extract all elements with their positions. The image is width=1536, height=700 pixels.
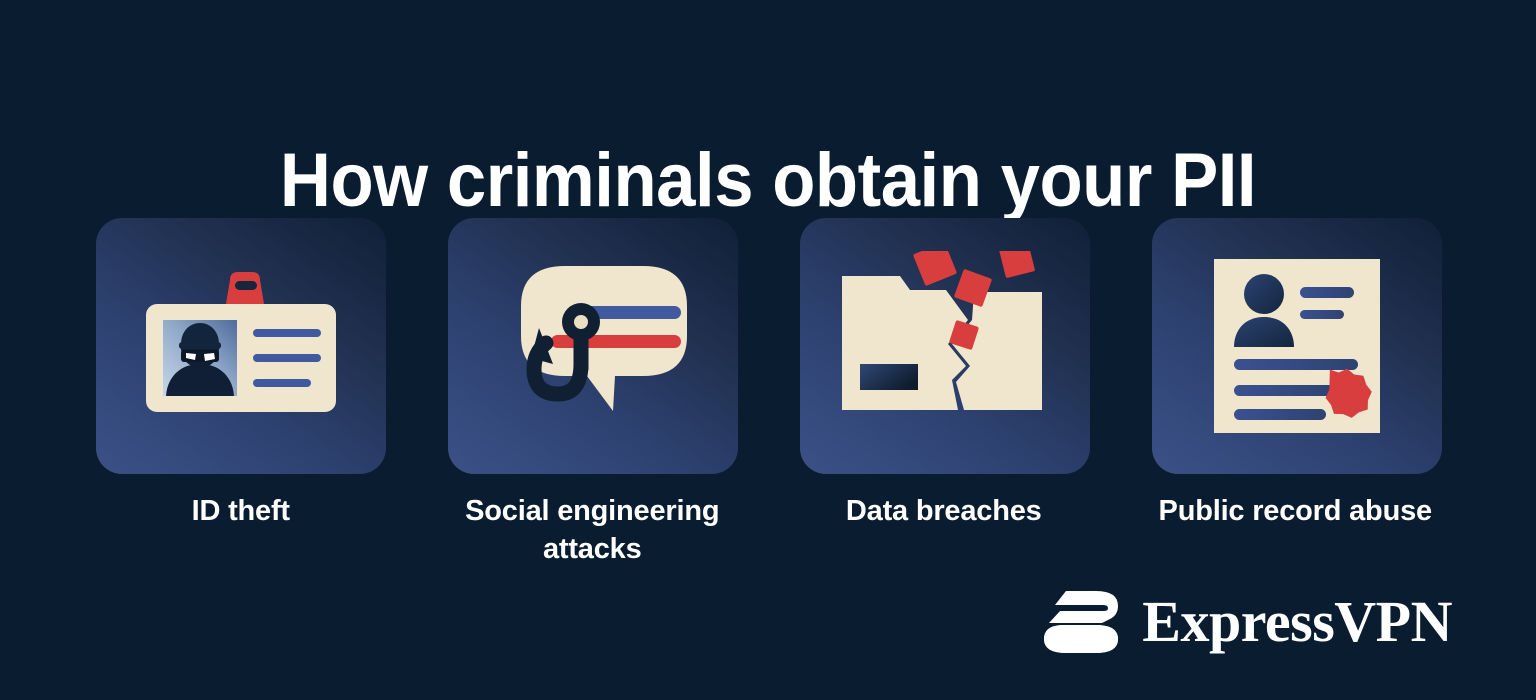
- card-tile-social-engineering[interactable]: [448, 218, 738, 474]
- card-public-record-abuse[interactable]: [1152, 218, 1442, 474]
- cracked-folder-icon: [800, 218, 1090, 474]
- card-label-public-record-abuse: Public record abuse: [1151, 492, 1441, 568]
- expressvpn-logo-mark: [1044, 589, 1120, 655]
- card-labels-row: ID theft Social engineering attacks Data…: [96, 492, 1440, 568]
- page-title: How criminals obtain your PII: [54, 131, 1482, 231]
- card-id-theft[interactable]: [96, 218, 386, 474]
- phishing-hook-chat-icon: [448, 218, 738, 474]
- infographic-canvas: How criminals obtain your PII: [0, 0, 1536, 700]
- expressvpn-wordmark: ExpressVPN: [1142, 593, 1452, 651]
- id-badge-thief-icon: [96, 218, 386, 474]
- card-data-breaches[interactable]: [800, 218, 1090, 474]
- card-tile-id-theft[interactable]: [96, 218, 386, 474]
- cards-row: [96, 218, 1440, 474]
- card-tile-public-record-abuse[interactable]: [1152, 218, 1442, 474]
- public-record-document-icon: [1152, 218, 1442, 474]
- card-label-social-engineering: Social engineering attacks: [448, 492, 738, 568]
- card-label-data-breaches: Data breaches: [799, 492, 1089, 568]
- card-tile-data-breaches[interactable]: [800, 218, 1090, 474]
- card-social-engineering[interactable]: [448, 218, 738, 474]
- card-label-id-theft: ID theft: [96, 492, 386, 568]
- expressvpn-logo[interactable]: ExpressVPN: [1044, 586, 1452, 658]
